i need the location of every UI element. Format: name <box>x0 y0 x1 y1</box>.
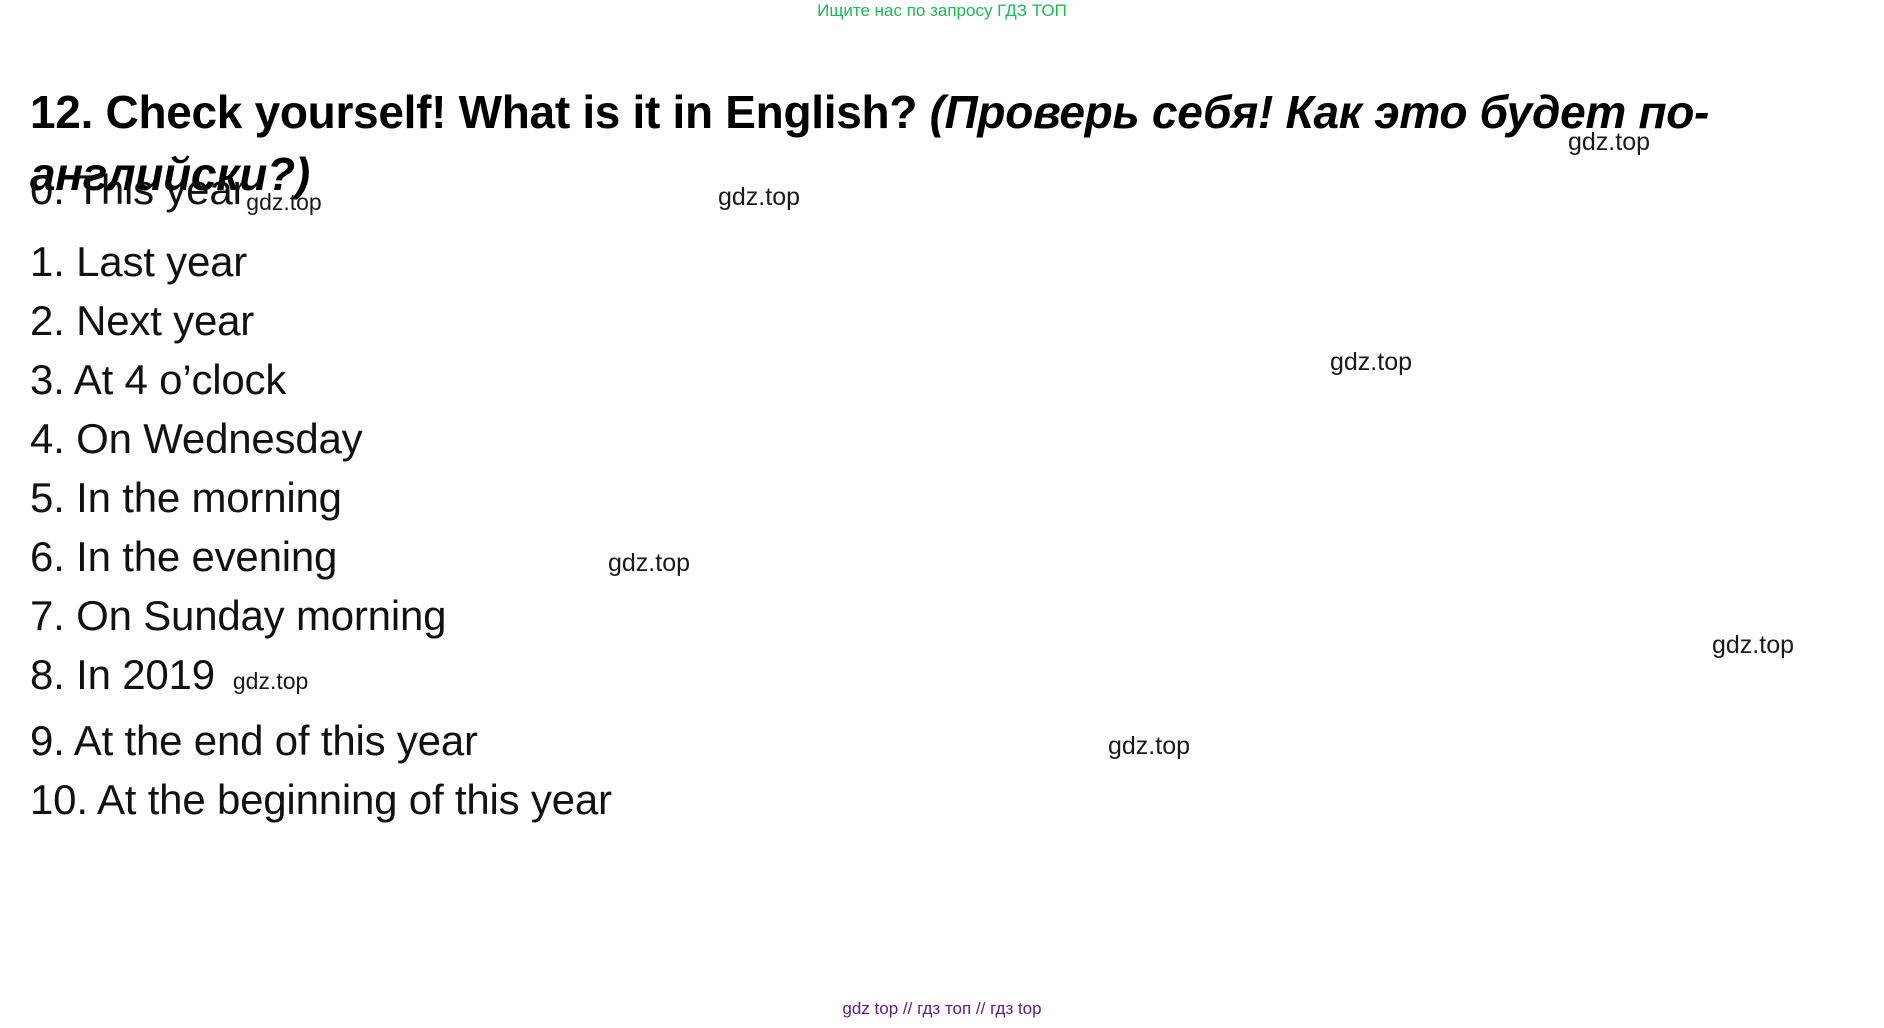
list-item-number: 9. <box>30 717 65 764</box>
list-item-text: In the evening <box>76 533 337 580</box>
list-item-number: 7. <box>30 592 65 639</box>
list-item-text: This year <box>75 166 246 213</box>
watermark: gdz.top <box>718 182 800 212</box>
list-item: 8. In 2019gdz.top <box>30 645 1430 711</box>
watermark: gdz.top <box>1568 127 1650 157</box>
watermark: gdz.top <box>1108 731 1190 761</box>
promo-banner-text: Ищите нас по запросу ГДЗ ТОП <box>0 0 1884 22</box>
watermark: gdz.top <box>608 548 690 578</box>
list-item-text: At the end of this year <box>74 717 478 764</box>
list-item: 6. In the evening <box>30 527 1430 586</box>
list-item-number: 0. <box>30 166 65 213</box>
list-item-number: 10. <box>30 776 88 823</box>
exercise-list: 0. This yeargdz.top 1. Last year 2. Next… <box>30 160 1430 829</box>
list-item: 2. Next year <box>30 291 1430 350</box>
list-item: 9. At the end of this year <box>30 711 1430 770</box>
list-item-number: 5. <box>30 474 65 521</box>
watermark-inline: gdz.top <box>215 668 308 694</box>
list-item: 10. At the beginning of this year <box>30 770 1430 829</box>
list-item-number: 6. <box>30 533 65 580</box>
list-item: 3. At 4 o’clock <box>30 350 1430 409</box>
watermark-inline: gdz.top <box>246 189 321 215</box>
list-item-text: On Wednesday <box>76 415 362 462</box>
footer-text: gdz top // гдз топ // гдз top <box>0 998 1884 1020</box>
list-item-text: Last year <box>76 238 247 285</box>
list-item: 7. On Sunday morning <box>30 586 1430 645</box>
list-item: 1. Last year <box>30 232 1430 291</box>
list-item: 5. In the morning <box>30 468 1430 527</box>
list-item-text: At the beginning of this year <box>97 776 612 823</box>
list-item-number: 3. <box>30 356 65 403</box>
list-item-text: In 2019 <box>76 651 215 698</box>
document-page: Ищите нас по запросу ГДЗ ТОП 12. Check y… <box>0 0 1884 1028</box>
list-item-number: 8. <box>30 651 65 698</box>
list-item-text: On Sunday morning <box>76 592 446 639</box>
list-item-number: 2. <box>30 297 65 344</box>
page-title-english: 12. Check yourself! What is it in Englis… <box>30 86 917 138</box>
list-item-text: Next year <box>76 297 254 344</box>
watermark: gdz.top <box>1712 630 1794 660</box>
list-item-number: 1. <box>30 238 65 285</box>
list-item: 4. On Wednesday <box>30 409 1430 468</box>
list-item-text: At 4 o’clock <box>74 356 286 403</box>
list-item-number: 4. <box>30 415 65 462</box>
list-item-text: In the morning <box>76 474 342 521</box>
watermark: gdz.top <box>1330 347 1412 377</box>
